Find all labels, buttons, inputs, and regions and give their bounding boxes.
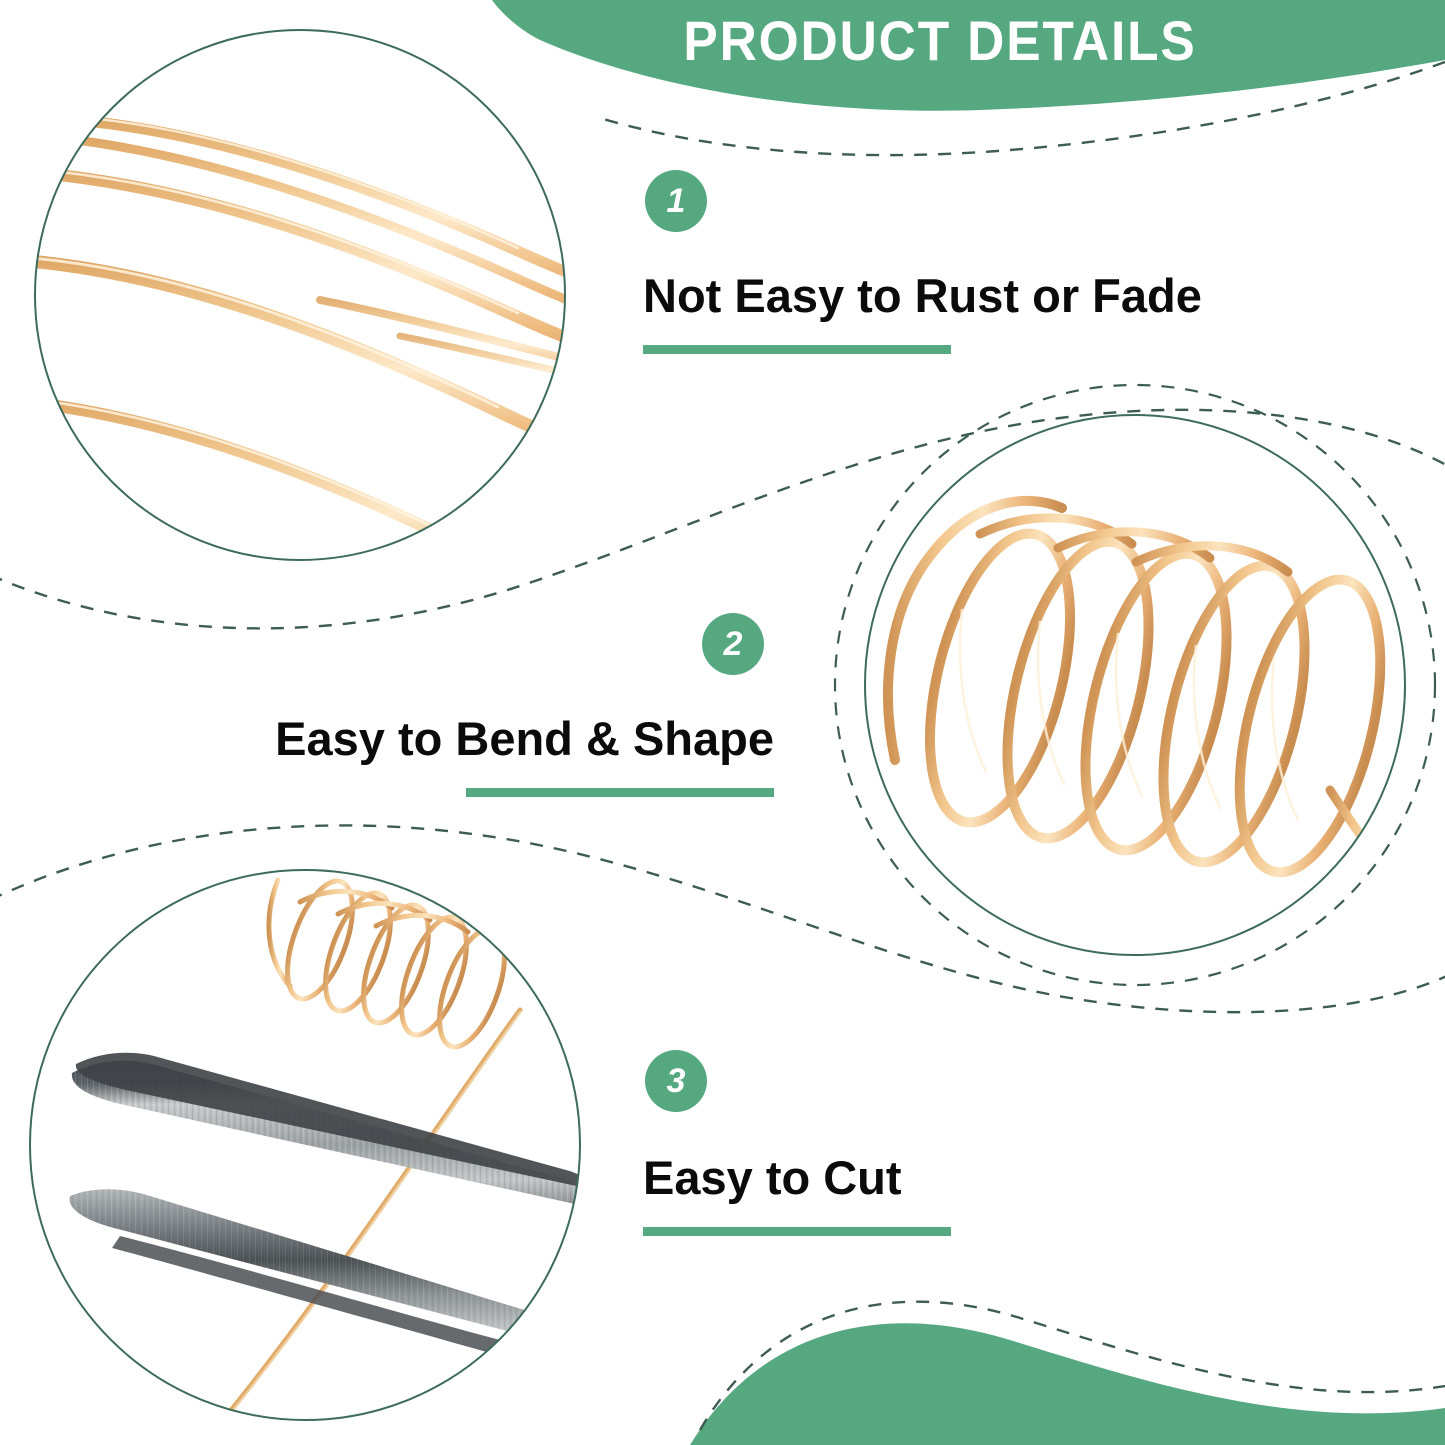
dashed-curve-top (600, 62, 1445, 155)
infographic-page: PRODUCT DETAILS 1 Not Easy to Rust or Fa… (0, 0, 1445, 1445)
dashed-curve-lower-s (0, 825, 1445, 1012)
photo-circle-wire-coil (835, 385, 1435, 985)
dashed-curve-bottom (700, 1302, 1445, 1430)
footer-wave-shape (690, 1323, 1445, 1445)
feature-number-badge-1: 1 (645, 170, 707, 232)
page-title: PRODUCT DETAILS (646, 8, 1235, 73)
feature-title-1: Not Easy to Rust or Fade (643, 270, 1202, 322)
feature-underline-2 (466, 788, 774, 797)
dashed-ring-around-coil (835, 385, 1435, 985)
feature-number-badge-2: 2 (702, 613, 764, 675)
dashed-curve-upper-s (0, 410, 1445, 629)
feature-number-badge-3: 3 (645, 1050, 707, 1112)
feature-item-1: 1 Not Easy to Rust or Fade (643, 170, 1202, 354)
wire-being-cut (215, 1010, 520, 1430)
plier-lower-jaw (69, 1189, 613, 1380)
photo-circle-pliers-cut (25, 865, 613, 1445)
feature-title-2: Easy to Bend & Shape (254, 713, 774, 765)
feature-underline-3 (643, 1227, 951, 1236)
feature-underline-1 (643, 345, 951, 354)
feature-item-2: 2 Easy to Bend & Shape (254, 613, 774, 797)
plier-upper-jaw (72, 1053, 587, 1206)
feature-title-3: Easy to Cut (643, 1152, 951, 1204)
feature-item-3: 3 Easy to Cut (643, 1050, 951, 1236)
